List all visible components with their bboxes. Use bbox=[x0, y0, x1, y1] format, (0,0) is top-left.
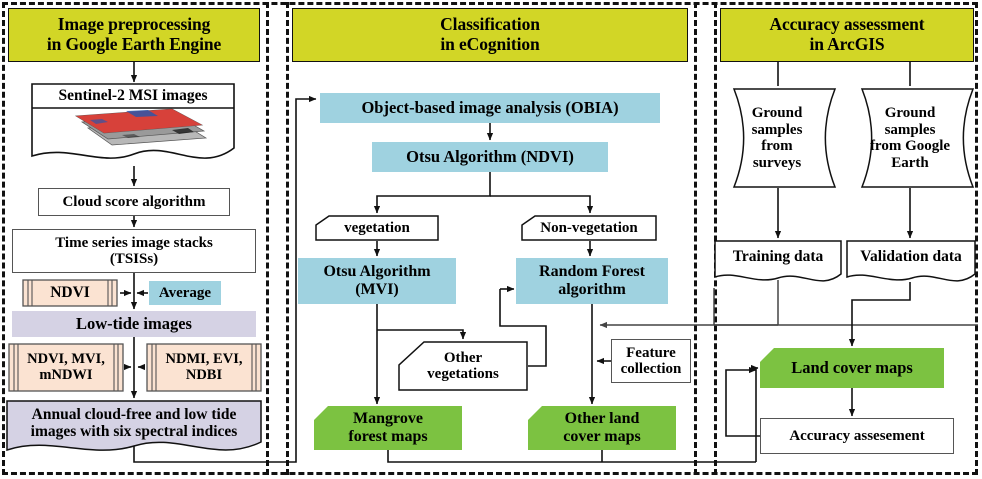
flowchart-diagram: Image preprocessing in Google Earth Engi… bbox=[0, 0, 982, 479]
sentinel-label: Sentinel-2 MSI images bbox=[34, 85, 232, 107]
middle-connectors bbox=[377, 123, 978, 462]
left-to-middle-connector bbox=[134, 99, 316, 462]
left-connectors bbox=[120, 62, 148, 398]
connector-layer bbox=[0, 0, 982, 479]
